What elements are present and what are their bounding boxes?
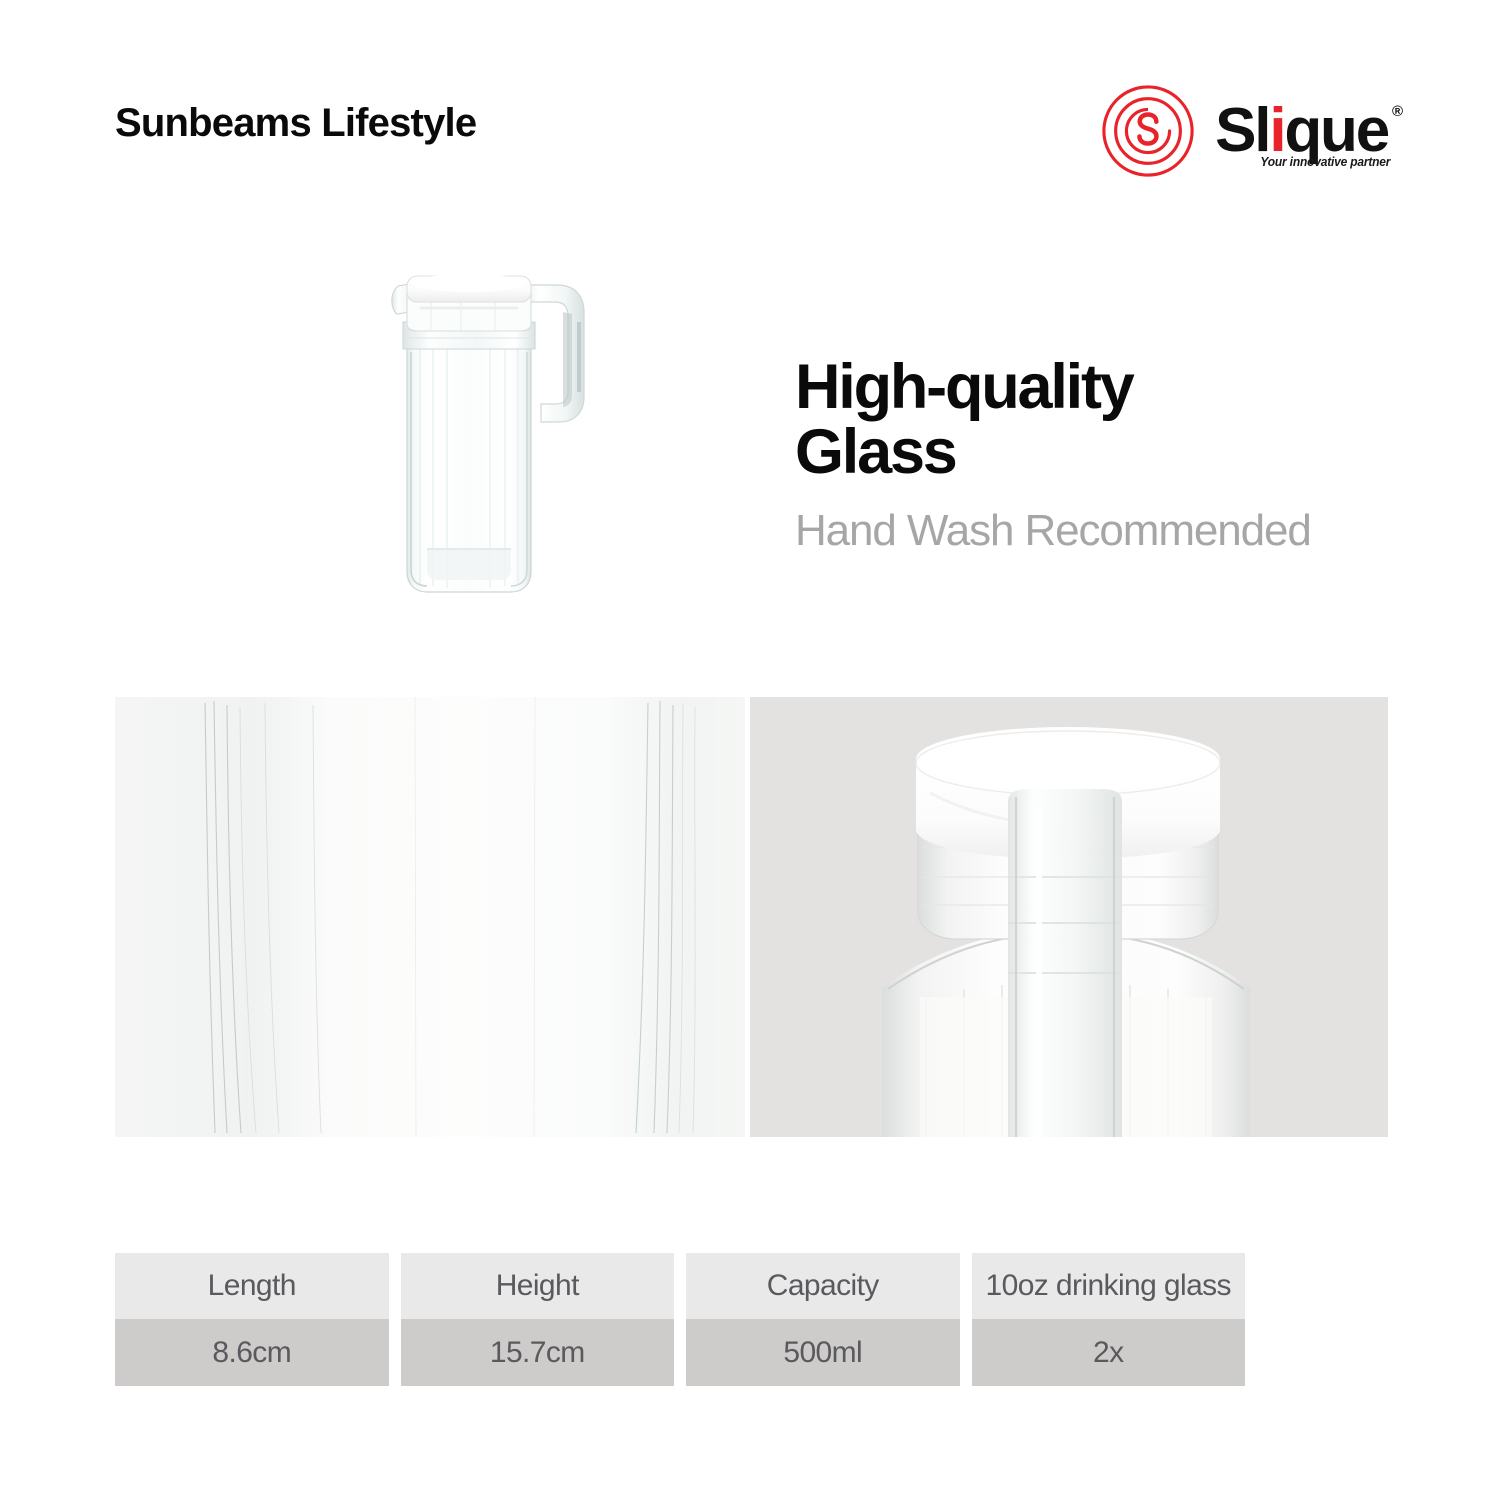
headline-subtitle: Hand Wash Recommended: [795, 507, 1415, 555]
wordmark-part1: Sl: [1215, 96, 1269, 165]
wordmark-part2: que: [1284, 96, 1388, 165]
spec-header-height: Height: [401, 1253, 675, 1319]
slique-spiral-s-icon: [1099, 82, 1197, 180]
glass-body-macro-photo: [115, 697, 745, 1137]
slique-wordmark-text: Slique: [1215, 96, 1388, 165]
wordmark-i-letter: i: [1269, 96, 1284, 165]
headline-block: High-quality Glass Hand Wash Recommended: [795, 355, 1415, 555]
spec-column-capacity: Capacity 500ml: [686, 1253, 960, 1386]
spec-value-drinking-glass: 2x: [972, 1319, 1246, 1386]
spec-value-capacity: 500ml: [686, 1319, 960, 1386]
spec-column-length: Length 8.6cm: [115, 1253, 389, 1386]
registered-trademark-symbol: ®: [1392, 104, 1403, 119]
detail-photo-panels: [115, 697, 1388, 1137]
spec-header-length: Length: [115, 1253, 389, 1319]
spec-value-height: 15.7cm: [401, 1319, 675, 1386]
spec-header-capacity: Capacity: [686, 1253, 960, 1319]
spec-table: Length 8.6cm Height 15.7cm Capacity 500m…: [115, 1253, 1245, 1386]
spec-header-drinking-glass: 10oz drinking glass: [972, 1253, 1246, 1319]
spec-column-drinking-glass: 10oz drinking glass 2x: [972, 1253, 1246, 1386]
slique-logo: Slique ® Your innovative partner: [1099, 82, 1392, 180]
brand-title: Sunbeams Lifestyle: [115, 103, 476, 143]
hero-product-image: [335, 252, 635, 652]
slique-wordmark: Slique ® Your innovative partner: [1215, 102, 1392, 161]
pitcher-lid-closeup-icon: [750, 697, 1388, 1137]
glass-pitcher-with-white-lid-icon: [335, 252, 635, 652]
lid-and-handle-macro-photo: [750, 697, 1388, 1137]
spec-value-length: 8.6cm: [115, 1319, 389, 1386]
spec-column-height: Height 15.7cm: [401, 1253, 675, 1386]
headline-main: High-quality Glass: [795, 355, 1415, 485]
headline-line-2: Glass: [795, 420, 1415, 485]
logo-tagline: Your innovative partner: [1260, 155, 1390, 169]
headline-line-1: High-quality: [795, 355, 1415, 420]
glass-body-closeup-icon: [115, 697, 745, 1137]
